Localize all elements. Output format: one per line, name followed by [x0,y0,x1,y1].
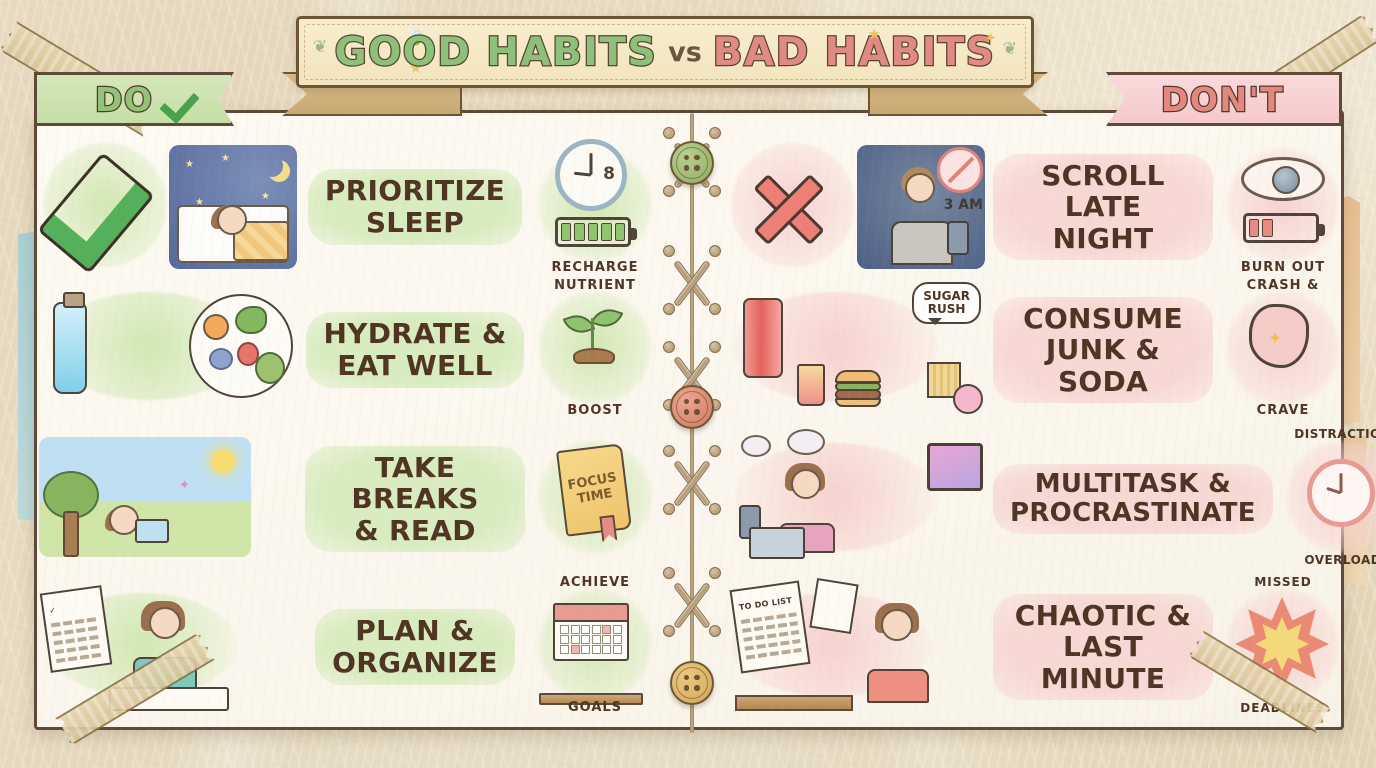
divider-button-gold [670,661,714,705]
badge-distraction-overload: DISTRACTION OVERLOAD [1279,429,1376,569]
divider-stitch-cross [665,443,719,517]
star-icon: ★ [868,25,881,43]
divider-stitch-cross [665,243,719,317]
good-row-breaks: ✦ TAKE BREAKS & READ FOCUS TIME [37,425,659,573]
bad-habits-column: 3 AM SCROLL LATE NIGHT BURN OUT [725,113,1347,733]
good-habits-column: ★ ★ ★ ★ PRIORITIZE SLEEP [37,113,659,733]
bubble-line-1: SUGAR [923,289,970,303]
stressed-face [791,469,821,499]
thought-cloud-icon [741,435,771,457]
badge-caption-burnout: BURN OUT [1219,260,1347,275]
good-label-breaks: TAKE BREAKS & READ [299,446,531,553]
badge-focus-time: FOCUS TIME [531,429,659,569]
tired-eye-icon [1241,157,1325,201]
illustration-junk-food: SUGAR RUSH [725,280,987,420]
illustration-messy-desk: TO DO LIST [725,577,987,717]
label-line-1: PRIORITIZE [325,174,505,207]
sprout-icon [565,306,621,364]
do-ribbon: DO [34,72,234,126]
good-row-sleep: ★ ★ ★ ★ PRIORITIZE SLEEP [37,133,659,281]
todo-list-icon: TO DO LIST [729,581,810,674]
torso [891,221,953,265]
night-bedroom-scene: ★ ★ ★ ★ [169,145,297,269]
todo-list-title: TO DO LIST [738,596,792,612]
badge-achieve-goals: ACHIEVE GOALS [531,577,659,717]
illustration-boy-on-phone: 3 AM [725,137,987,277]
battery-low-icon [1243,213,1319,243]
clock-icon [1307,459,1375,527]
badge-recharge: 8 RECHARGE [531,137,659,277]
dont-ribbon: DON'T [1106,72,1342,126]
label-line-1: TAKE BREAKS [351,451,478,516]
bad-label-chaotic: CHAOTIC & LAST MINUTE [987,594,1219,701]
night-room-scene: 3 AM [857,145,985,269]
sleeping-face [217,205,247,235]
bad-label-multitask: MULTITASK & PROCRASTINATE [987,464,1279,535]
donut-icon [953,384,983,414]
label-line-1: CONSUME [1023,302,1183,335]
good-label-sleep: PRIORITIZE SLEEP [299,169,531,244]
label-line-1: PLAN & [355,614,474,647]
badge-caption-bottom: GOALS [531,700,659,715]
divider-stitch-cross [665,565,719,639]
stomach-icon: ✦ [1249,304,1309,368]
tree-icon [43,471,99,557]
book-icon: FOCUS TIME [556,443,632,536]
illustration-multitasking [725,429,987,569]
badge-caption-top: DISTRACTION [1279,427,1376,441]
badge-caption-top: MISSED [1219,575,1347,589]
leaf-sprig-icon: ❦ [1003,39,1017,59]
label-line-1: CHAOTIC & [1015,599,1191,632]
monitor-icon [927,443,983,491]
scene-time-tag: 3 AM [944,197,983,213]
burger-icon [835,370,881,404]
bubble-line-2: RUSH [928,302,966,316]
badge-crash-crave: ✦ CRASH & CRAVE [1219,280,1347,420]
angry-face [905,173,935,203]
label-line-2: JUNK & SODA [1046,333,1160,398]
water-bottle-icon [53,302,87,394]
checklist-icon: ✓ [40,585,113,673]
loose-paper [809,578,858,634]
label-line-1: MULTITASK & [1035,469,1231,499]
bad-row-chaotic: TO DO LIST CHAOTIC & LAST MINUTE MISSED [725,573,1347,721]
center-divider [659,113,725,733]
title-good: GOOD HABITS [335,30,658,75]
badge-burn-out: BURN OUT [1219,137,1347,277]
banner-body: ❦ ✦ ★ 🍃 GOOD HABITS vs BAD HABITS ★ ❦ ✦ [296,16,1034,88]
clock-icon: 8 [555,139,627,211]
label-line-2: LATE NIGHT [1053,190,1154,255]
badge-caption-recharge: RECHARGE [531,260,659,275]
label-line-2: PROCRASTINATE [1010,498,1256,528]
badge-caption-bottom: CRAVE [1219,403,1347,418]
soda-can-icon [743,298,783,378]
illustration-reading-in-park: ✦ [37,429,299,569]
sugar-rush-bubble: SUGAR RUSH [912,282,981,324]
clock-number: 8 [603,164,615,184]
label-line-2: SLEEP [366,206,464,239]
soda-cup-icon [797,364,825,406]
green-check-icon [53,159,149,255]
badge-caption-top: NUTRIENT [531,278,659,293]
do-label: DO [95,80,153,119]
good-label-plan: PLAN & ORGANIZE [299,609,531,684]
laptop-icon [749,527,805,559]
no-sleep-icon [937,147,983,193]
calendar-icon [553,603,629,661]
phone-icon [947,221,969,255]
red-cross-icon [741,161,835,255]
good-row-hydrate: HYDRATE & EAT WELL NUTRIENT BOOST [37,276,659,424]
sun-icon [211,449,235,473]
label-line-2: ORGANIZE [332,646,498,679]
infographic-card: ★ ★ ★ ★ PRIORITIZE SLEEP [34,110,1344,730]
badge-caption-top: ACHIEVE [531,575,659,590]
divider-button-red [670,385,714,429]
panicked-face [881,609,913,641]
battery-full-icon [555,217,631,247]
torso [867,669,929,703]
title-bad: BAD HABITS [713,30,996,75]
badge-caption-bottom: OVERLOAD [1279,553,1376,567]
badge-nutrient-boost: NUTRIENT BOOST [531,280,659,420]
bad-row-multitask: MULTITASK & PROCRASTINATE DISTRACTION OV… [725,425,1347,573]
moon-icon [261,155,283,177]
good-label-hydrate: HYDRATE & EAT WELL [299,312,531,387]
bad-row-junk: SUGAR RUSH CONSUME JUNK & SODA [725,276,1347,424]
title-banner: ❦ ✦ ★ 🍃 GOOD HABITS vs BAD HABITS ★ ❦ ✦ [296,16,1034,104]
label-line-2: EAT WELL [337,349,493,382]
label-line-2: & READ [354,514,476,547]
divider-button-green [670,141,714,185]
park-scene: ✦ [39,437,251,557]
thought-cloud-icon [787,429,825,455]
bad-row-scroll: 3 AM SCROLL LATE NIGHT BURN OUT [725,133,1347,281]
illustration-planning: ✓ [37,577,299,717]
sparkle-icon: ✦ [984,29,997,47]
desk-icon [735,695,853,711]
bad-label-scroll: SCROLL LATE NIGHT [987,154,1219,261]
open-book-icon [135,519,169,543]
illustration-girl-sleeping: ★ ★ ★ ★ [37,137,299,277]
healthy-plate-icon [189,294,293,398]
label-line-1: HYDRATE & [323,317,506,350]
planner-face [149,607,181,639]
dont-label: DON'T [1161,80,1284,119]
badge-caption-top: CRASH & [1219,278,1347,293]
bad-label-junk: CONSUME JUNK & SODA [987,297,1219,404]
badge-caption-bottom: BOOST [531,403,659,418]
check-icon [165,84,201,114]
title-vs: vs [668,37,702,68]
illustration-water-and-food [37,280,299,420]
label-line-2: LAST MINUTE [1041,630,1165,695]
label-line-1: SCROLL [1041,159,1165,192]
leaf-sprig-icon: ❦ [313,37,327,57]
